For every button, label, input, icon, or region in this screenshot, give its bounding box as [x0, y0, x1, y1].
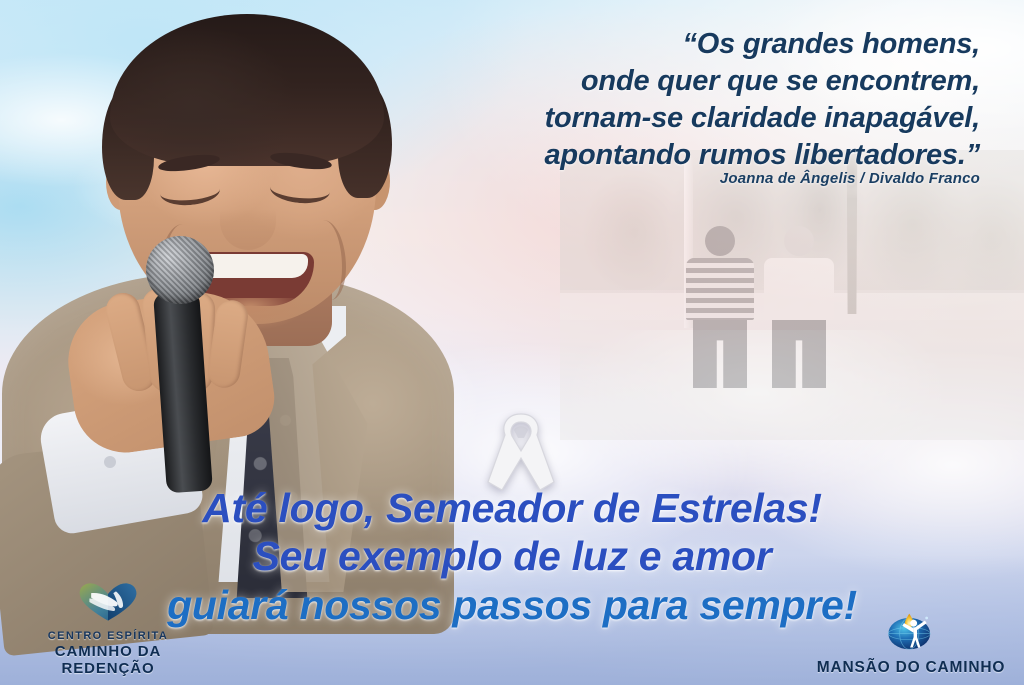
logo-right-line-2: MANSÃO DO CAMINHO — [806, 659, 1016, 677]
quote-line-4: apontando rumos libertadores.” — [420, 137, 980, 174]
person-head-shape — [705, 226, 735, 256]
person-white-shirt-shape — [764, 258, 834, 320]
person-striped-shirt-shape — [686, 258, 754, 320]
quote-line-2: onde quer que se encontrem, — [420, 63, 980, 100]
nose-shape — [220, 192, 276, 250]
headline-line-2: Seu exemplo de luz e amor — [0, 532, 1024, 580]
logo-left-line-1: CENTRO ESPÍRITA — [8, 630, 208, 643]
person-head-shape — [784, 226, 814, 256]
quote-text: “Os grandes homens, onde quer que se enc… — [420, 26, 980, 174]
logo-left-line-2: CAMINHO DA REDENÇÃO — [8, 643, 208, 678]
quote-line-3: tornam-se claridade inapagável, — [420, 100, 980, 137]
quote-line-1: “Os grandes homens, — [420, 26, 980, 63]
memorial-poster: “Os grandes homens, onde quer que se enc… — [0, 0, 1024, 685]
faded-background-photo — [560, 150, 1024, 440]
person-legs-shape — [693, 320, 747, 388]
microphone-head-icon — [146, 236, 214, 304]
heart-hands-icon — [8, 582, 208, 627]
walking-person-icon — [686, 226, 754, 388]
logo-mansao-do-caminho[interactable]: MANSÃO DO CAMINHO — [806, 611, 1016, 677]
cuff-button-shape — [104, 456, 116, 468]
logo-centro-espirita[interactable]: CENTRO ESPÍRITA CAMINHO DA REDENÇÃO — [8, 582, 208, 677]
globe-figure-icon — [806, 611, 1016, 656]
walking-person-icon — [764, 226, 834, 388]
person-legs-shape — [772, 320, 826, 388]
hair-shape — [110, 14, 384, 166]
headline-line-1: Até logo, Semeador de Estrelas! — [0, 484, 1024, 532]
quote-author: Joanna de Ângelis / Divaldo Franco — [420, 170, 980, 187]
white-ribbon-icon — [478, 408, 564, 496]
